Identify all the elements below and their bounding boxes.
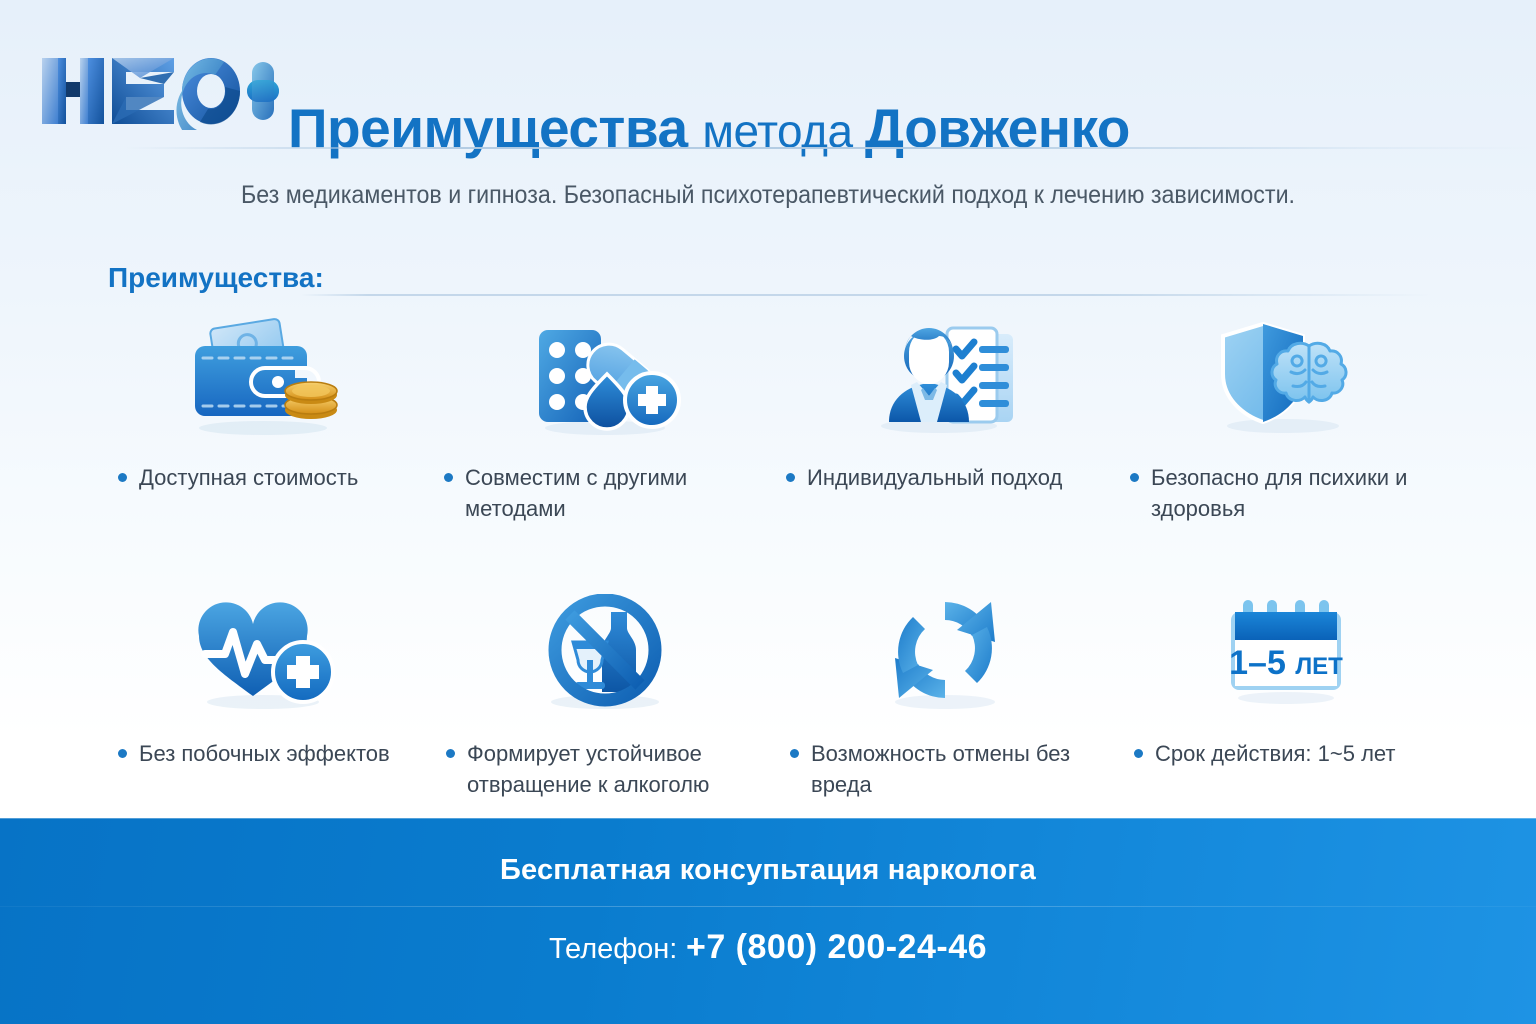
bullet-dot — [444, 473, 453, 482]
section-divider — [300, 294, 1435, 296]
benefit-item: Безопасно для психики и здоровья — [1116, 312, 1456, 524]
benefit-label-row: Формирует устойчивое отвращение к алкого… — [436, 738, 776, 800]
shield-brain-icon — [1116, 312, 1456, 442]
heart-pulse-plus-icon — [96, 588, 436, 718]
bullet-dot — [786, 473, 795, 482]
benefit-item: Без побочных эффектов — [96, 588, 436, 800]
benefit-item: Формирует устойчивое отвращение к алкого… — [436, 588, 776, 800]
phone-label: Телефон: — [549, 933, 677, 965]
benefit-label: Индивидуальный подход — [807, 462, 1062, 493]
section-heading: Преимущества: — [108, 262, 324, 294]
bullet-dot — [790, 749, 799, 758]
header-divider — [0, 147, 1536, 149]
phone-number[interactable]: +7 (800) 200-24-46 — [686, 928, 987, 966]
neo-plus-logo — [36, 52, 280, 130]
calendar-unit-text: ЛЕТ — [1295, 653, 1343, 680]
benefit-label: Доступная стоимость — [139, 462, 358, 493]
benefit-label-row: Без побочных эффектов — [96, 738, 436, 769]
benefit-item: Совместим с другими методами — [436, 312, 776, 524]
benefit-item: Доступная стоимость — [96, 312, 436, 524]
pills-capsule-plus-icon — [436, 312, 776, 442]
refresh-arrows-icon — [776, 588, 1116, 718]
footer-divider — [0, 906, 1536, 907]
benefit-label: Совместим с другими методами — [465, 462, 733, 524]
benefit-label-row: Доступная стоимость — [96, 462, 436, 493]
benefit-label: Формирует устойчивое отвращение к алкого… — [467, 738, 735, 800]
calendar-icon: 1–5 ЛЕТ — [1116, 588, 1456, 718]
title-part-1: Преимущества — [288, 97, 702, 159]
footer-cta-bar: Бесплатная консупьтация нарколога Телефо… — [0, 818, 1536, 1024]
page-title: Преимущества метода Довженко — [288, 93, 1130, 166]
benefit-label: Срок действия: 1~5 лет — [1155, 738, 1396, 769]
benefit-label: Возможность отмены без вреда — [811, 738, 1079, 800]
benefit-item: Возможность отмены без вреда — [776, 588, 1116, 800]
footer-phone-row: Телефон: +7 (800) 200-24-46 — [0, 928, 1536, 967]
benefits-grid: Доступная стоимость — [96, 312, 1456, 800]
bullet-dot — [1130, 473, 1139, 482]
bullet-dot — [1134, 749, 1143, 758]
no-alcohol-icon — [436, 588, 776, 718]
benefit-label-row: Совместим с другими методами — [436, 462, 776, 524]
subtitle: Без медикаментов и гипноза. Безопасный п… — [54, 178, 1482, 212]
wallet-coins-icon — [96, 312, 436, 442]
title-part-2: метода — [702, 105, 865, 157]
bullet-dot — [446, 749, 455, 758]
benefit-item: 1–5 ЛЕТ Срок действия: 1~5 лет — [1116, 588, 1456, 800]
bullet-dot — [118, 749, 127, 758]
benefit-label: Безопасно для психики и здоровья — [1151, 462, 1419, 524]
benefit-item: Индивидуальный подход — [776, 312, 1116, 524]
header: Преимущества метода Довженко — [0, 0, 1536, 148]
infographic-poster: Преимущества метода Довженко Без медикам… — [0, 0, 1536, 1024]
benefit-label-row: Возможность отмены без вреда — [776, 738, 1116, 800]
benefit-label-row: Индивидуальный подход — [776, 462, 1116, 493]
doctor-checklist-icon — [776, 312, 1116, 442]
benefit-label: Без побочных эффектов — [139, 738, 390, 769]
benefit-label-row: Срок действия: 1~5 лет — [1116, 738, 1456, 769]
bullet-dot — [118, 473, 127, 482]
benefit-label-row: Безопасно для психики и здоровья — [1116, 462, 1456, 524]
footer-cta-title: Бесплатная консупьтация нарколога — [0, 854, 1536, 887]
title-part-3: Довженко — [865, 97, 1130, 159]
